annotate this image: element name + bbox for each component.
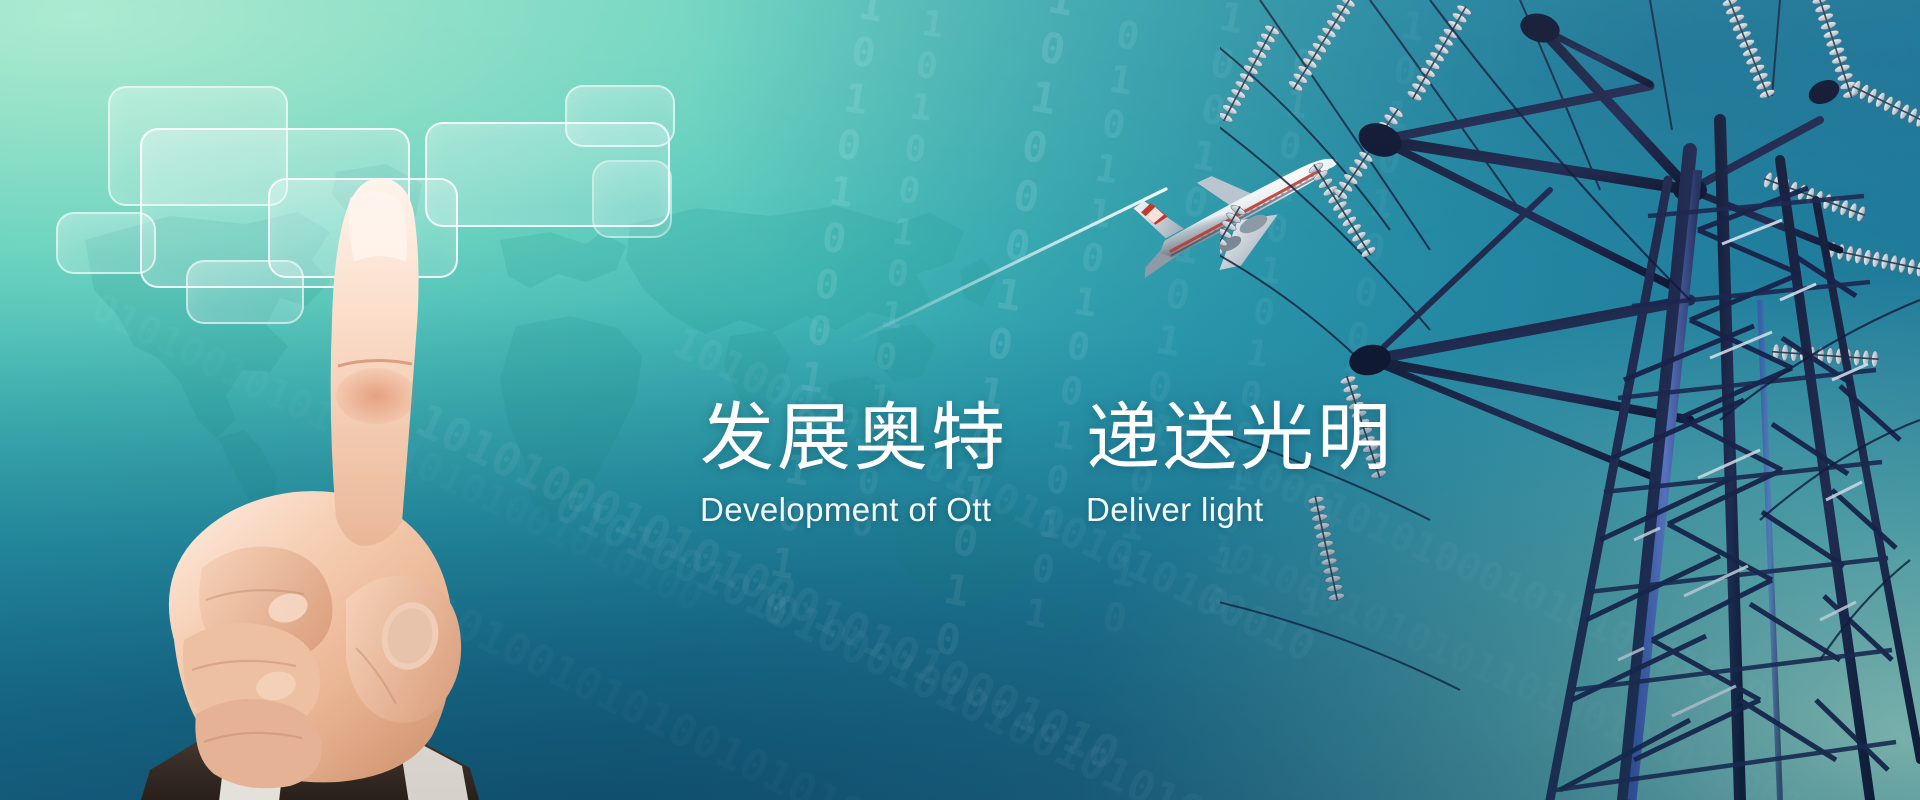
headline-chinese-row: 发展奥特 递送光明 xyxy=(700,400,1460,475)
hero-banner: 10101000101010 01010010101000 1010001010… xyxy=(0,0,1920,800)
headline-english-row: Development of Ott Deliver light xyxy=(700,491,1460,529)
subtitle-en-left: Development of Ott xyxy=(700,491,1020,529)
subtitle-en-right: Deliver light xyxy=(1086,491,1346,529)
headline-cn-right: 递送光明 xyxy=(1086,400,1346,475)
headline-block: 发展奥特 递送光明 Development of Ott Deliver lig… xyxy=(700,400,1460,529)
headline-cn-left: 发展奥特 xyxy=(700,400,1020,475)
pointing-hand xyxy=(110,170,540,800)
